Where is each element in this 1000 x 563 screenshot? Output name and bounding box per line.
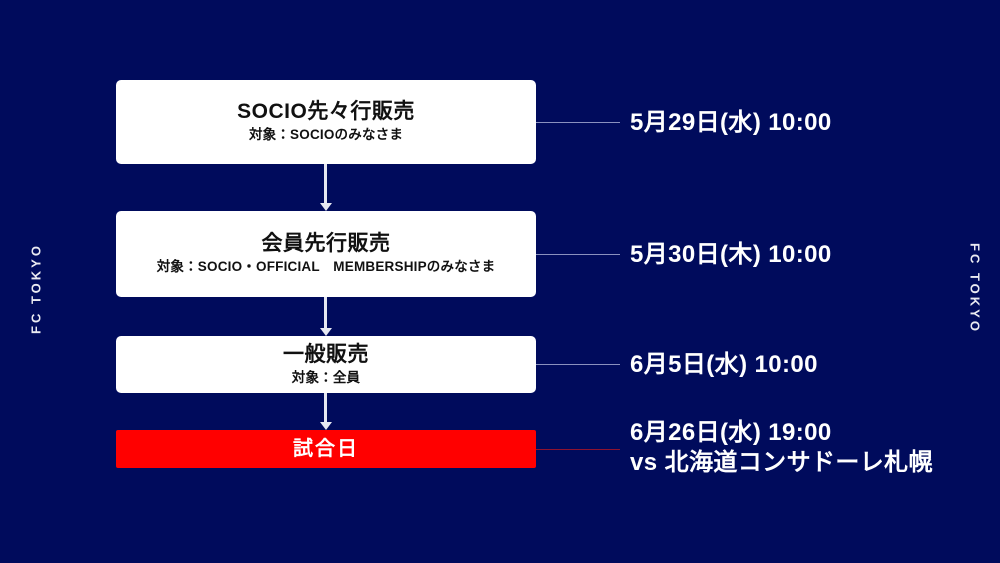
leader-line-4 <box>536 449 620 450</box>
flow-arrow-down-icon <box>324 297 327 329</box>
flow-step-title: 一般販売 <box>283 343 369 367</box>
leader-line-3 <box>536 364 620 365</box>
leader-line-1 <box>536 122 620 123</box>
brand-mark-right: FC TOKYO <box>968 229 983 349</box>
flow-step-subtitle: 対象：全員 <box>292 370 361 386</box>
schedule-opponent: vs 北海道コンサドーレ札幌 <box>630 448 933 478</box>
schedule-datetime: 5月30日(木) 10:00 <box>630 241 832 268</box>
flow-arrow-down-icon <box>324 393 327 423</box>
schedule-label-member-advance: 5月30日(木) 10:00 <box>630 240 832 270</box>
schedule-label-match-day: 6月26日(水) 19:00 vs 北海道コンサドーレ札幌 <box>630 418 933 478</box>
flow-step-match-day: 試合日 <box>116 430 536 468</box>
leader-line-2 <box>536 254 620 255</box>
schedule-datetime: 6月26日(水) 19:00 <box>630 419 832 446</box>
schedule-label-general-sale: 6月5日(水) 10:00 <box>630 350 818 380</box>
schedule-datetime: 6月5日(水) 10:00 <box>630 351 818 378</box>
brand-mark-left: FC TOKYO <box>29 229 44 349</box>
flow-step-subtitle: 対象：SOCIO・OFFICIAL MEMBERSHIPのみなさま <box>157 259 496 275</box>
flow-step-member-advance: 会員先行販売 対象：SOCIO・OFFICIAL MEMBERSHIPのみなさま <box>116 211 536 297</box>
flow-step-subtitle: 対象：SOCIOのみなさま <box>249 127 403 143</box>
flow-arrow-down-icon <box>324 164 327 204</box>
schedule-datetime: 5月29日(水) 10:00 <box>630 109 832 136</box>
ticket-sales-schedule-diagram: FC TOKYO FC TOKYO SOCIO先々行販売 対象：SOCIOのみな… <box>0 0 1000 563</box>
flow-step-socio-advance: SOCIO先々行販売 対象：SOCIOのみなさま <box>116 80 536 164</box>
flow-step-title: 会員先行販売 <box>262 232 391 256</box>
flow-step-title: SOCIO先々行販売 <box>237 100 415 124</box>
schedule-label-socio-advance: 5月29日(水) 10:00 <box>630 108 832 138</box>
flow-step-general-sale: 一般販売 対象：全員 <box>116 336 536 393</box>
flow-step-title: 試合日 <box>293 438 359 461</box>
